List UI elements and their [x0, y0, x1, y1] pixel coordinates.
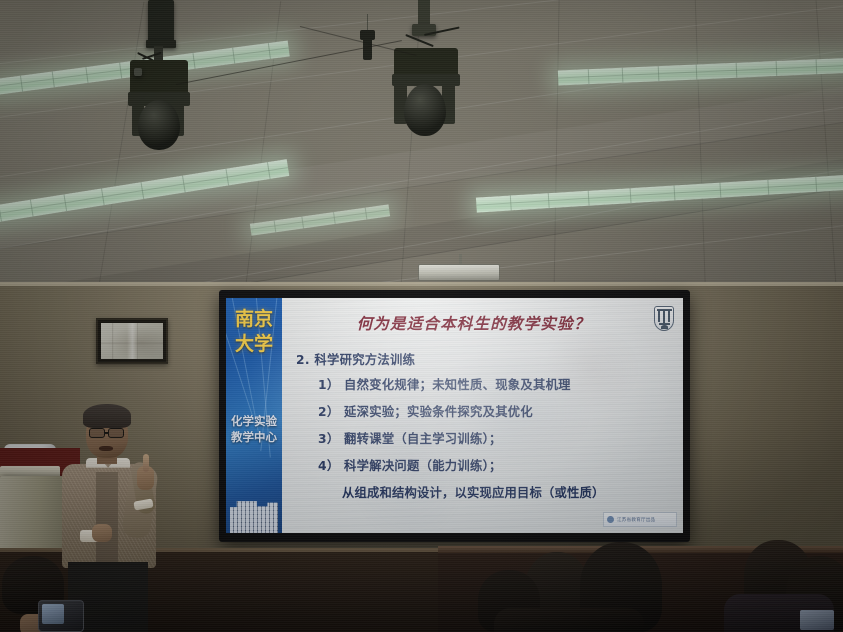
ptz-camera-right: [386, 0, 472, 150]
presentation-slide: 南京大学 化学实验教学中心 何为是适合本科生的教学实验？ 2. 科学研究方法训练…: [226, 298, 683, 533]
glasses-icon: [108, 428, 124, 438]
slide-bullet: 1） 自然变化规律；未知性质、现象及其机理: [318, 375, 673, 393]
slide-body: 2. 科学研究方法训练 1） 自然变化规律；未知性质、现象及其机理 2） 延深实…: [296, 350, 673, 501]
ceiling-light-strip: [250, 204, 390, 235]
phone-screen: [42, 604, 64, 624]
slide-sidebar-center: 化学实验教学中心: [226, 414, 282, 445]
lecture-hall-photo: 南京大学 化学实验教学中心 何为是适合本科生的教学实验？ 2. 科学研究方法训练…: [0, 0, 843, 632]
slide-sidebar: 南京大学 化学实验教学中心: [226, 298, 282, 533]
glasses-icon: [89, 428, 105, 438]
slide-bullet: 4） 科学解决问题（能力训练）；: [318, 456, 673, 474]
audience-torso: [494, 608, 644, 632]
slide-section-heading: 2. 科学研究方法训练: [296, 350, 673, 368]
framed-artwork: [96, 318, 168, 364]
foreground-attendee: [0, 556, 86, 632]
ptz-camera-left: [126, 0, 206, 170]
watermark-logo-icon: [607, 516, 614, 523]
audience-phone-screen: [800, 610, 834, 630]
slide-subnote: 从组成和结构设计，以实现应用目标（或性质）: [342, 483, 673, 501]
artwork-mat: [101, 323, 163, 359]
slide-bullet: 3） 翻转课堂（自主学习训练）；: [318, 429, 673, 447]
slide-sidebar-university: 南京大学: [226, 307, 282, 357]
ceiling-light-strip: [558, 57, 843, 85]
slide-bullet: 2） 延深实验；实验条件探究及其优化: [318, 402, 673, 420]
glass-glare: [127, 323, 138, 359]
projection-screen: 南京大学 化学实验教学中心 何为是适合本科生的教学实验？ 2. 科学研究方法训练…: [219, 290, 690, 542]
slide-watermark-badge: 江苏省教育厅出品: [603, 512, 677, 527]
audience: [0, 528, 843, 632]
slide-title: 何为是适合本科生的教学实验？: [304, 312, 643, 334]
ceiling-projector: [418, 264, 500, 281]
nanjing-university-shield-emblem: [654, 306, 674, 331]
watermark-label: 江苏省教育厅出品: [617, 517, 655, 523]
presenter-index-finger: [143, 454, 149, 472]
